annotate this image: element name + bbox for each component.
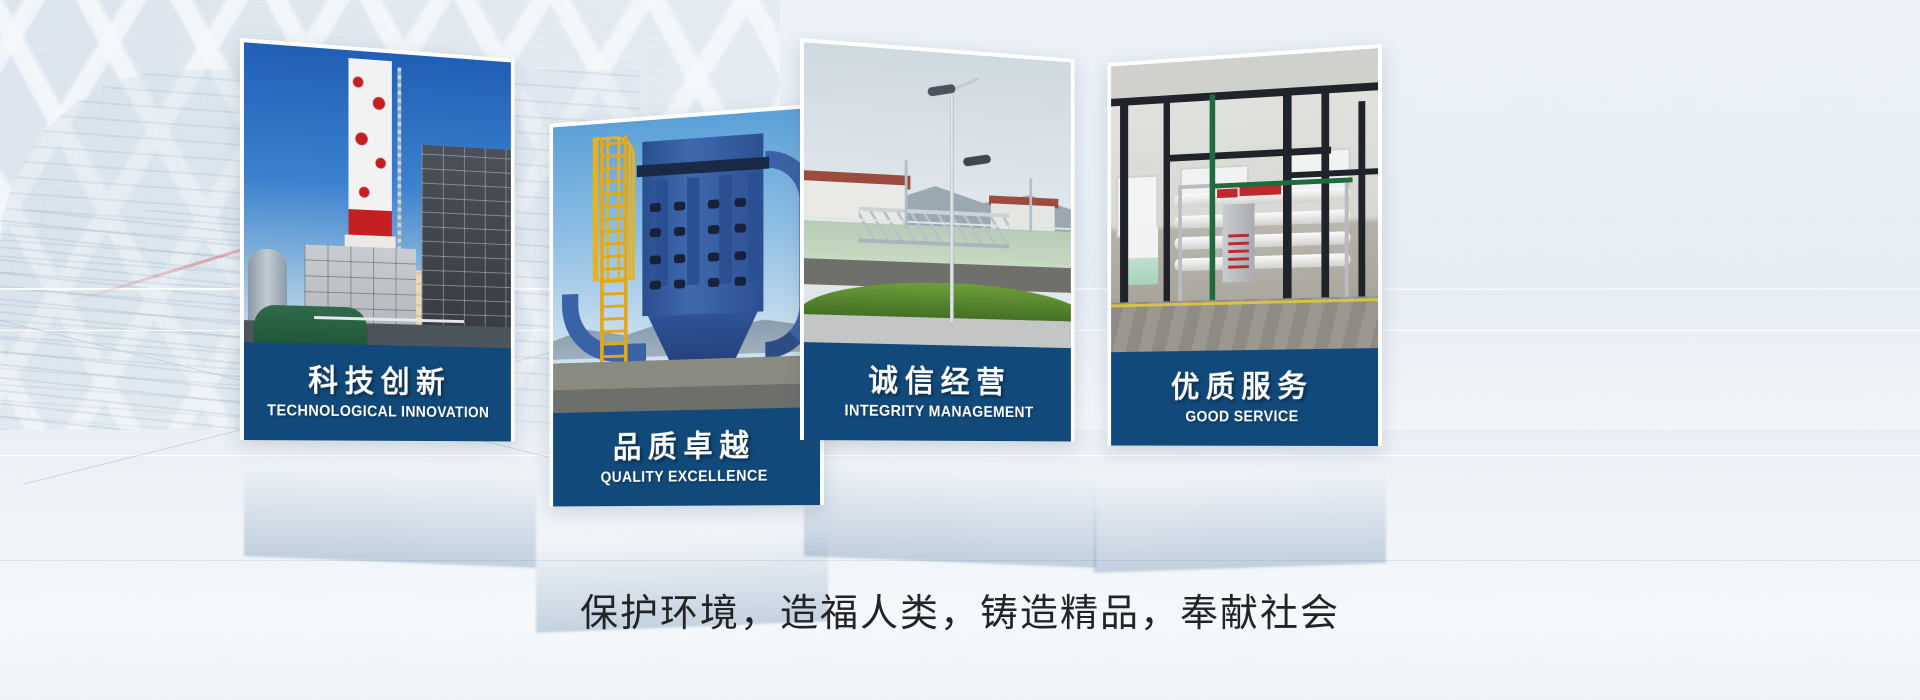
photo-nozzle <box>735 277 747 286</box>
panel-title-en: GOOD SERVICE <box>1185 409 1298 427</box>
photo-nozzle <box>708 199 719 209</box>
value-panel-quality-excellence[interactable]: 品质卓越 QUALITY EXCELLENCE <box>550 103 824 506</box>
photo-chimney-red-band <box>349 209 392 236</box>
photo-nozzle <box>674 279 685 288</box>
photo-nozzle <box>735 223 747 232</box>
photo-dark-tower <box>422 145 511 348</box>
panel-title-cn: 品质卓越 <box>613 428 756 465</box>
panel-inner: 科技创新 TECHNOLOGICAL INNOVATION <box>244 42 511 441</box>
panel-reflection <box>1094 443 1386 573</box>
panel-title-cn: 科技创新 <box>308 363 451 400</box>
panel-caption: 优质服务 GOOD SERVICE <box>1111 348 1378 446</box>
panel-reflection <box>244 436 536 568</box>
photo-nozzle <box>674 254 685 263</box>
photo-nozzle <box>650 255 661 264</box>
photo-pipe <box>1283 96 1292 299</box>
photo-patterned-chimney <box>349 58 392 227</box>
panel-inner: 优质服务 GOOD SERVICE <box>1111 48 1378 446</box>
photo-pipe <box>1164 95 1170 301</box>
panel-reflection <box>804 436 1096 568</box>
photo-pipe <box>1358 101 1365 297</box>
wastewater-treatment-photo <box>804 42 1071 348</box>
panel-caption: 科技创新 TECHNOLOGICAL INNOVATION <box>244 342 511 441</box>
photo-lamp-pole-tertiary <box>1029 178 1032 232</box>
photo-nozzle <box>708 252 719 261</box>
banner-tagline: 保护环境，造福人类，铸造精品，奉献社会 <box>0 582 1920 637</box>
photo-red-sign-small <box>1217 188 1238 198</box>
photo-green-equipment <box>254 304 368 348</box>
panel-title-en: INTEGRITY MANAGEMENT <box>845 403 1034 423</box>
photo-lamp-pole-main <box>950 84 954 322</box>
background-floor-line-b <box>0 560 1920 561</box>
photo-yellow-ladder <box>600 135 627 383</box>
background-floor-line-a <box>0 455 1920 456</box>
photo-nozzle <box>674 201 685 210</box>
photo-cabinet-indicators <box>1228 229 1249 269</box>
value-panel-integrity-management[interactable]: 诚信经营 INTEGRITY MANAGEMENT <box>800 38 1074 441</box>
photo-chemical-tank <box>1127 225 1158 285</box>
photo-collector-column <box>687 177 699 285</box>
photo-pipe <box>1120 98 1128 303</box>
photo-mast <box>397 67 401 262</box>
photo-nozzle <box>674 227 685 236</box>
photo-lamp-pole-secondary <box>905 160 908 229</box>
photo-scraper-bridge <box>859 207 1010 249</box>
panel-title-en: QUALITY EXCELLENCE <box>601 468 768 487</box>
photo-nozzle <box>708 225 719 234</box>
dust-collector-photo <box>553 107 820 413</box>
ro-water-system-photo <box>1111 48 1378 352</box>
photo-nozzle <box>735 198 747 208</box>
photo-collector-column <box>719 175 731 284</box>
panel-inner: 品质卓越 QUALITY EXCELLENCE <box>553 107 820 506</box>
photo-nozzle <box>650 228 661 237</box>
photo-nozzle <box>708 278 719 287</box>
photo-pipe <box>1321 93 1329 297</box>
power-plant-stack-photo <box>244 42 511 348</box>
panel-title-cn: 诚信经营 <box>868 363 1011 400</box>
panel-caption: 诚信经营 INTEGRITY MANAGEMENT <box>804 342 1071 441</box>
value-panel-technological-innovation[interactable]: 科技创新 TECHNOLOGICAL INNOVATION <box>240 38 514 441</box>
photo-collector-column <box>748 173 761 282</box>
photo-nozzle <box>650 203 661 212</box>
photo-green-pipe <box>1210 94 1216 304</box>
company-values-banner: 科技创新 TECHNOLOGICAL INNOVATION <box>0 0 1920 700</box>
value-panel-good-service[interactable]: 优质服务 GOOD SERVICE <box>1108 44 1382 446</box>
photo-nozzle <box>650 281 661 290</box>
panel-title-en: TECHNOLOGICAL INNOVATION <box>267 403 489 423</box>
panel-title-cn: 优质服务 <box>1171 368 1314 404</box>
photo-nozzle <box>735 251 747 260</box>
panel-inner: 诚信经营 INTEGRITY MANAGEMENT <box>804 42 1071 441</box>
panel-caption: 品质卓越 QUALITY EXCELLENCE <box>553 407 820 506</box>
background-floor <box>0 430 1920 700</box>
